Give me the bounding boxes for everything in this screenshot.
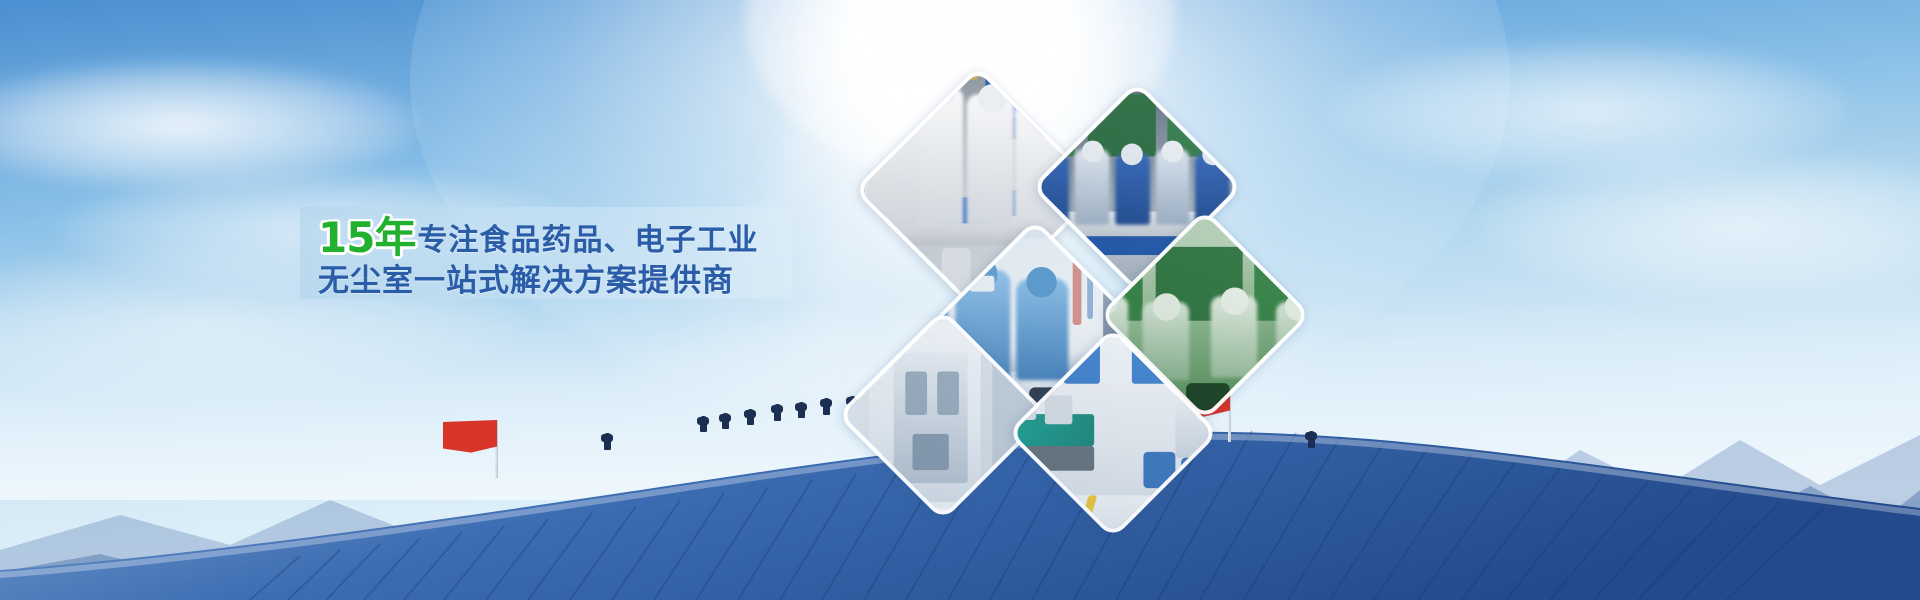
headline-line1-rest: 专注食品药品、电子工业 [417, 226, 758, 256]
headline-line-2: 无尘室一站式解决方案提供商 [318, 259, 792, 301]
climber-silhouette [697, 417, 709, 425]
climber-silhouette [771, 405, 783, 413]
climber-silhouette [795, 403, 807, 411]
climber-silhouette [744, 410, 756, 418]
hero-banner: 15年 专注食品药品、电子工业 无尘室一站式解决方案提供商 [0, 0, 1920, 600]
climber-silhouette [601, 434, 613, 442]
headline-panel: 15年 专注食品药品、电子工业 无尘室一站式解决方案提供商 [300, 207, 792, 299]
climber-silhouette [1305, 432, 1317, 440]
climber-silhouette [719, 414, 731, 422]
cleanroom-photo-collage [830, 90, 1290, 480]
headline-line-1: 15年 专注食品药品、电子工业 [318, 215, 792, 259]
headline-years: 15年 [318, 217, 415, 259]
